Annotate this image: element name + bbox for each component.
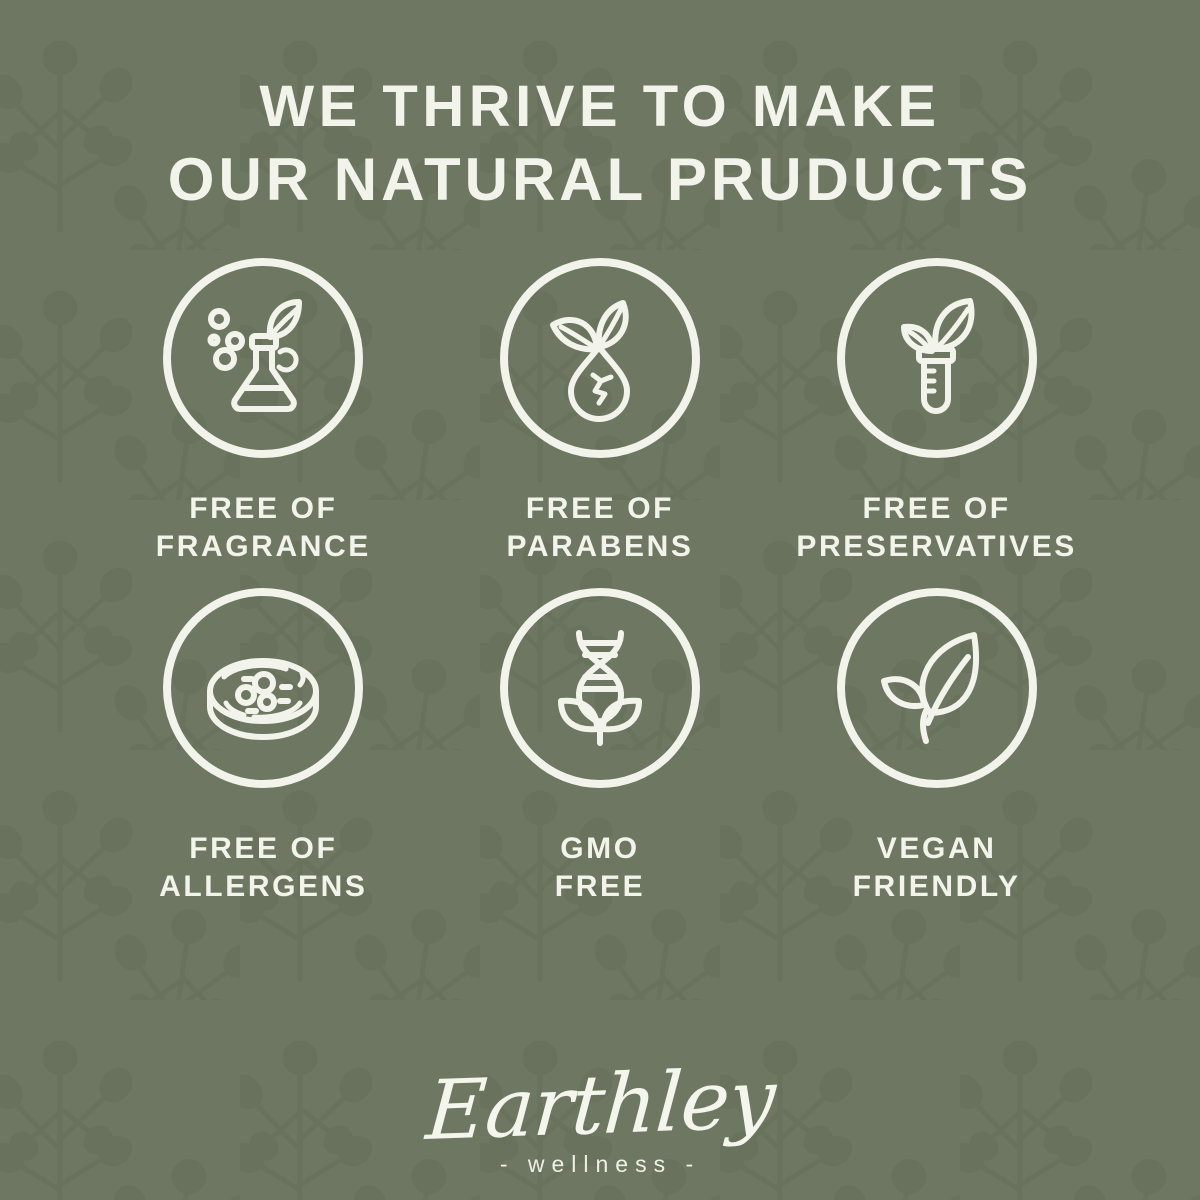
flask-with-leaf-and-bubbles-icon <box>198 293 328 423</box>
badge-free-of-parabens: FREE OF PARABENS <box>432 258 769 566</box>
badge-circle <box>837 258 1037 458</box>
badge-label: VEGAN FRIENDLY <box>853 830 1021 906</box>
badge-free-of-preservatives: FREE OF PRESERVATIVES <box>768 258 1105 566</box>
badge-free-of-allergens: FREE OF ALLERGENS <box>95 588 432 906</box>
badge-label: GMO FREE <box>555 830 645 906</box>
badge-label: FREE OF PARABENS <box>507 490 694 566</box>
badge-circle <box>500 588 700 788</box>
badge-circle <box>163 588 363 788</box>
test-tube-with-leaves-icon <box>872 293 1002 423</box>
two-leaves-icon <box>870 621 1004 755</box>
headline-line-2: OUR NATURAL PRUDUCTS <box>60 143 1140 216</box>
badge-vegan-friendly: VEGAN FRIENDLY <box>768 588 1105 906</box>
badge-circle <box>163 258 363 458</box>
brand-wordmark: Earthley <box>423 1059 777 1153</box>
badge-circle <box>837 588 1037 788</box>
badge-label: FREE OF FRAGRANCE <box>156 490 371 566</box>
badge-free-of-fragrance: FREE OF FRAGRANCE <box>95 258 432 566</box>
headline-line-1: WE THRIVE TO MAKE <box>60 72 1140 143</box>
badge-circle <box>500 258 700 458</box>
brand-logo: Earthley - wellness - <box>0 1065 1200 1178</box>
badge-gmo-free: GMO FREE <box>432 588 769 906</box>
badge-grid: FREE OF FRAGRANCE <box>95 258 1105 906</box>
dna-helix-with-leaves-icon <box>533 621 667 755</box>
page-headline: WE THRIVE TO MAKE OUR NATURAL PRUDUCTS <box>60 72 1140 216</box>
badge-label: FREE OF PRESERVATIVES <box>796 490 1077 566</box>
petri-dish-icon <box>196 621 330 755</box>
badge-label: FREE OF ALLERGENS <box>159 830 367 906</box>
droplet-with-leaves-and-molecule-icon <box>535 293 665 423</box>
poster-canvas: WE THRIVE TO MAKE OUR NATURAL PRUDUCTS <box>0 0 1200 1200</box>
